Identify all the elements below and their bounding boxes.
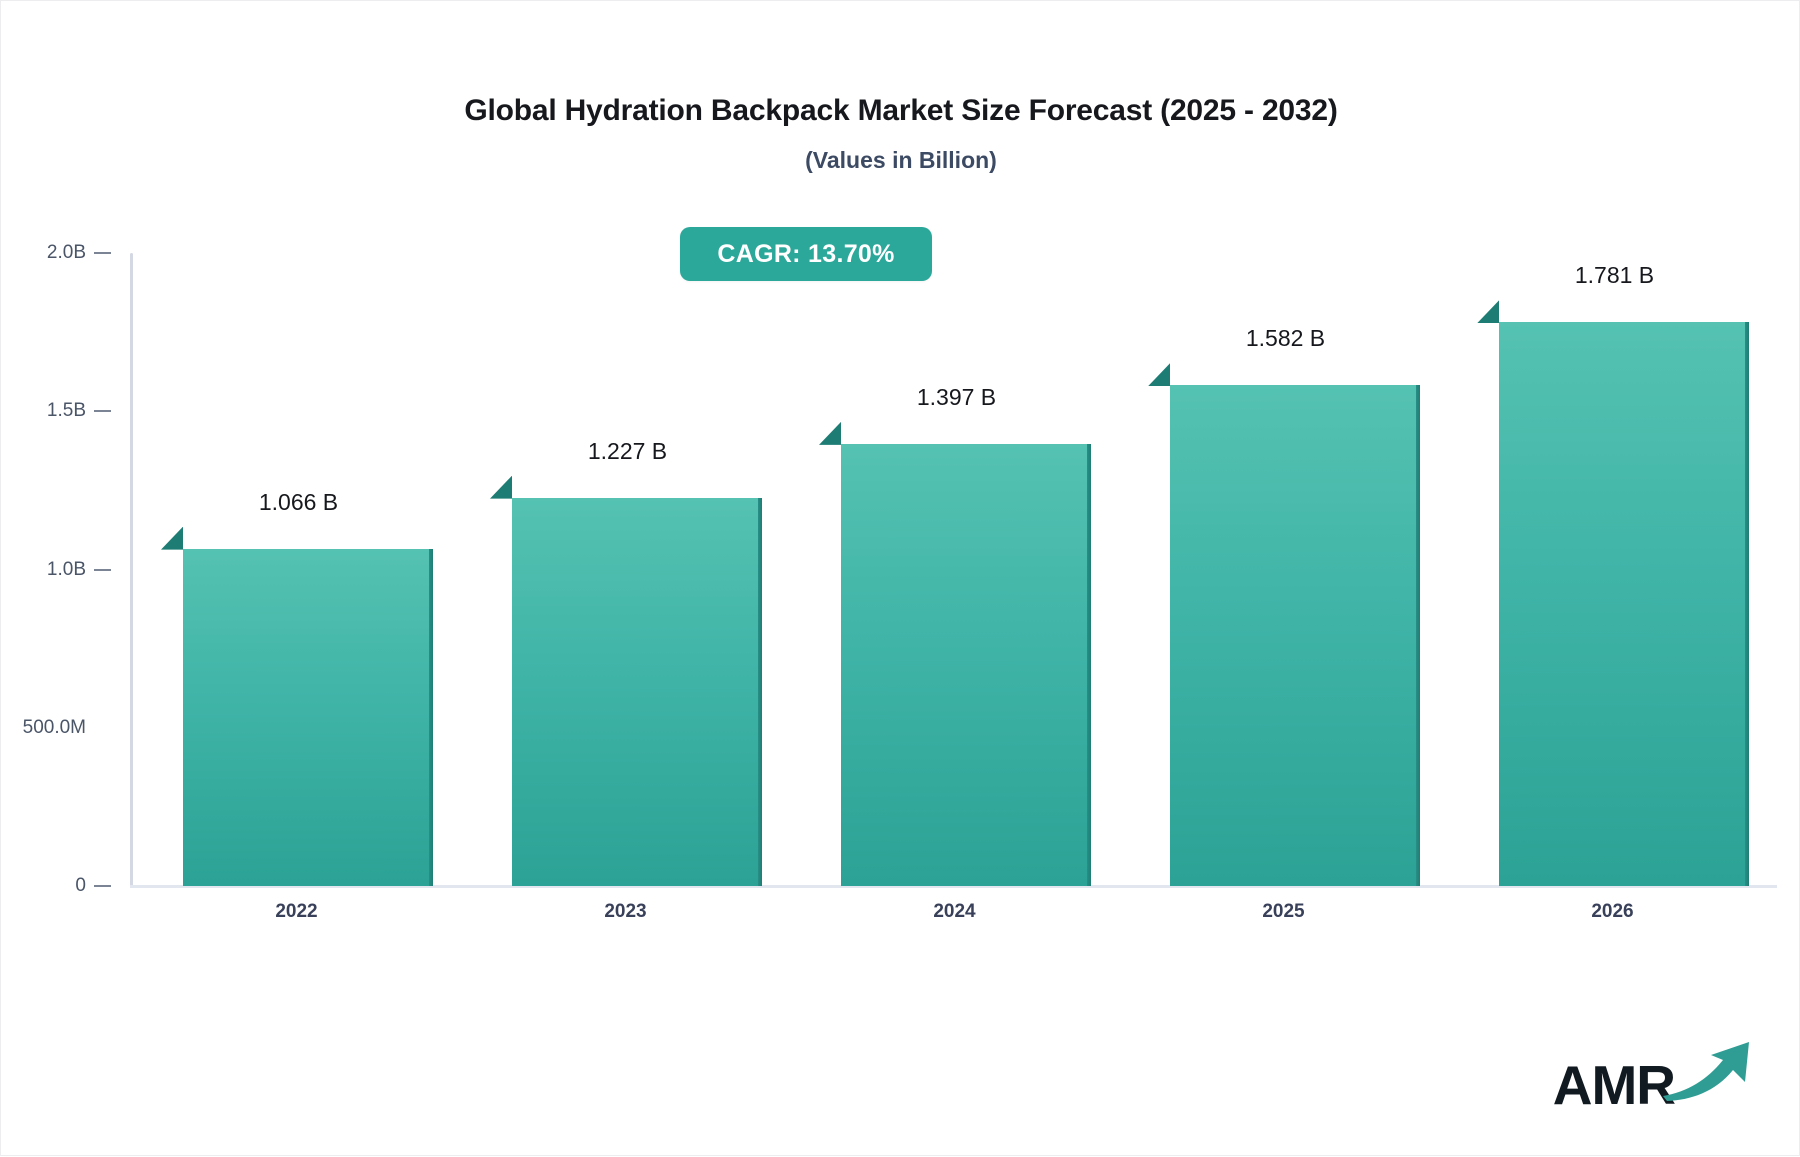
y-axis-tick-label: 1.5B: [1, 400, 86, 422]
bar-depth-left: [490, 476, 512, 499]
plot-area: 0500.0M1.0B1.5B2.0B 1.066 B1.227 B1.397 …: [1, 1, 1800, 1157]
amr-logo-text: AMR: [1553, 1059, 1675, 1111]
bar-2025[interactable]: [1148, 363, 1419, 886]
bar-side-face: [758, 498, 762, 886]
bar-depth-left: [1148, 363, 1170, 386]
bar-value-label: 1.397 B: [917, 384, 996, 411]
bar-depth-left: [819, 422, 841, 445]
bar-value-label: 1.582 B: [1246, 325, 1325, 352]
y-axis-tick-mark: [94, 252, 111, 254]
x-axis-label-2023: 2023: [604, 901, 646, 923]
chart-canvas: Global Hydration Backpack Market Size Fo…: [0, 0, 1800, 1156]
y-axis-tick-mark: [94, 885, 111, 887]
bar-front-face: [183, 549, 432, 886]
bar-front-face: [512, 498, 761, 886]
bar-value-label: 1.066 B: [259, 489, 338, 516]
amr-logo: AMR: [1553, 1036, 1757, 1111]
bar-side-face: [1087, 444, 1091, 886]
bar-front-face: [1170, 385, 1419, 886]
y-axis-tick-label: 2.0B: [1, 242, 86, 264]
bar-value-label: 1.227 B: [588, 438, 667, 465]
y-axis-tick-mark: [94, 410, 111, 412]
bar-depth-left: [1477, 300, 1499, 323]
x-axis-label-2026: 2026: [1591, 901, 1633, 923]
x-axis-label-2025: 2025: [1262, 901, 1304, 923]
y-axis-tick-label: 0: [1, 875, 86, 897]
bar-side-face: [1416, 385, 1420, 886]
bar-2026[interactable]: [1477, 300, 1748, 886]
bar-2023[interactable]: [490, 476, 761, 886]
growth-arrow-icon: [1661, 1036, 1757, 1107]
bar-2022[interactable]: [161, 527, 432, 886]
bar-front-face: [1499, 322, 1748, 886]
bar-front-face: [841, 444, 1090, 886]
x-axis-label-2022: 2022: [275, 901, 317, 923]
y-axis-line: [130, 253, 133, 887]
bar-side-face: [429, 549, 433, 886]
bar-value-label: 1.781 B: [1575, 262, 1654, 289]
y-axis-tick-label: 1.0B: [1, 559, 86, 581]
y-axis-tick-label: 500.0M: [1, 717, 86, 739]
bar-2024[interactable]: [819, 422, 1090, 886]
bar-side-face: [1745, 322, 1749, 886]
x-axis-label-2024: 2024: [933, 901, 975, 923]
y-axis-tick-mark: [94, 569, 111, 571]
bar-depth-left: [161, 527, 183, 550]
